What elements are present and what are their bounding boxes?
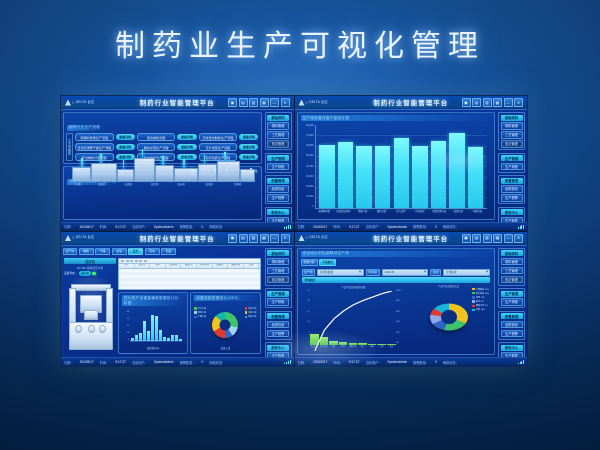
process-detail-button[interactable]: 查看详情 (116, 134, 135, 140)
bar-series (316, 125, 488, 208)
sidebar-item-shift[interactable]: 班次管理 (267, 140, 289, 148)
window-button-1[interactable]: ▣ (228, 234, 237, 243)
sidebar-item-inspection[interactable]: 品质检验 (501, 321, 523, 329)
legend-item: 片重超差 31% (472, 288, 489, 291)
sidebar-item-process[interactable]: 工艺管理 (501, 267, 523, 275)
process-detail-button[interactable]: 查看详情 (177, 134, 196, 140)
stage-tabs[interactable]: 制粒干燥总混压片包衣包装 (79, 248, 177, 256)
legend-label: 包衣工段 (248, 307, 256, 310)
app-titlebar: △ DELTA 台达 制药行业智能管理平台 ▣ ▤ ▥ ▦ — ✕ (295, 96, 528, 110)
sidebar-group-head: 质量管理 (501, 178, 523, 184)
production-line-panel: 全自动片剂包装联动生产线 运行 待机 故障 停机 保养 离线 (63, 166, 262, 220)
x-tick: 松片 (358, 345, 368, 350)
table-row: 流化床沸腾干燥生产流程 查看详情 整粒总混生产流程 查看详情 压片成型生产流程 … (75, 143, 259, 151)
legend-label: 硬度不足 7% (476, 304, 488, 307)
y-tick: 45 (127, 318, 129, 320)
column-header: 脆碎度 (213, 264, 229, 268)
sidebar-item-process[interactable]: 工艺管理 (501, 131, 523, 139)
user-label: 当前用户： (132, 224, 148, 229)
sidebar-item-shift[interactable]: 班次管理 (501, 276, 523, 284)
y-tick: 0 (312, 206, 313, 208)
status-bar: 日期： 2024/5/17 时间： 9:17:27 当前用户： SystemAd… (61, 357, 294, 366)
window-button-2[interactable]: ▤ (239, 234, 248, 243)
sidebar-item-inspection[interactable]: 品质检验 (501, 185, 523, 193)
window-button-3[interactable]: ▥ (249, 234, 258, 243)
table-row: 原辅料称量生产流程 查看详情 混合制粒流程 查看详情 高效湿法制粒生产流程 查看… (75, 133, 259, 141)
y-tick: 50,000 (306, 155, 313, 157)
legend-item: 硬度不足 7% (472, 304, 489, 307)
sidebar-item-alarm[interactable]: 生产报警 (267, 330, 289, 338)
window-button-1[interactable]: ▣ (462, 234, 471, 243)
filter-select-line[interactable]: 片剂包装线 (317, 269, 364, 277)
app-titlebar: △ DELTA 台达 制药行业智能管理平台 ▣ ▤ ▥ ▦ — ✕ (61, 96, 294, 110)
bar (394, 138, 409, 207)
sidebar-item-inspection[interactable]: 品质检验 (267, 321, 289, 329)
bar (449, 133, 464, 207)
data-table[interactable]: 序号批次号时间片重(mg)硬度(N)厚度(mm)脆碎度崩解时限状态 (118, 258, 261, 290)
x-axis: 片重超差裂片崩边色斑黏冲硬度不足松片缺角异物其他 (310, 345, 397, 350)
column-header: 厚度(mm) (197, 264, 213, 268)
sidebar-group-production: 生产管理 生产排程 (498, 153, 525, 173)
y-tick: 0% (396, 343, 399, 345)
window-button-4[interactable]: ▦ (260, 98, 269, 107)
column-header: 状态 (244, 264, 260, 268)
legend-swatch (194, 316, 197, 319)
minimize-button[interactable]: — (270, 98, 279, 107)
sidebar[interactable]: 基础资料 物料管理 工艺管理 班次管理 生产管理 生产排程 质量管理 品质检验 … (264, 246, 294, 358)
legend-swatch (472, 292, 475, 295)
column-header: 崩解时限 (228, 264, 244, 268)
panel-title: 制药行业生产流程 (67, 125, 105, 131)
x-tick: 黏冲 (338, 345, 348, 350)
sidebar-item-alarm[interactable]: 生产报警 (267, 194, 289, 202)
y-tick: 30,000 (306, 176, 313, 178)
status-led-icon (92, 272, 96, 276)
machine-row: 上料机 理瓶机 充填机 旋盖机 贴标机 装盒机 封箱机 (68, 152, 257, 182)
alarm-label: 报警数量： (180, 224, 196, 229)
defect-analysis-panel: 全自动片剂包装联动生产线 质量分析不良统计 生产线 片剂包装线 时间段 2024… (297, 248, 496, 356)
screen-defect-analysis[interactable]: △ DELTA 台达 制药行业智能管理平台 ▣ ▤ ▥ ▦ — ✕ 全自动片剂包… (295, 232, 528, 367)
legend-swatch (245, 316, 248, 319)
bar (151, 315, 154, 341)
y-tick: 20% (396, 333, 400, 335)
legend-label: 包装工段 (248, 311, 256, 314)
legend-label: 片重超差 31% (476, 288, 489, 291)
bar (356, 146, 371, 208)
sidebar-group-head: 基础资料 (501, 115, 523, 121)
close-button[interactable]: ✕ (514, 98, 523, 107)
x-tick: 高效湿法制粒 (334, 209, 353, 213)
window-button-4[interactable]: ▦ (493, 234, 502, 243)
alarm-value: 0 (202, 360, 204, 364)
donut-chart[interactable]: 压片工段制粒工段干燥工段 包衣工段包装工段称量工段 (193, 303, 257, 346)
chart-caption: 设备工段 (193, 346, 257, 351)
alarm-label: 报警数量： (180, 360, 196, 365)
machine-label: 上料机 (74, 182, 82, 186)
y-tick: 40% (396, 322, 400, 324)
legend-item: 干燥工段 (194, 315, 206, 318)
legend-swatch (472, 300, 475, 303)
process-detail-button[interactable]: 查看详情 (116, 144, 135, 150)
legend-label: 称量工段 (248, 315, 256, 318)
legend-item: 制粒工段 (194, 311, 206, 314)
sidebar-group-head: 基础资料 (501, 250, 523, 256)
x-tick: 包衣抛光 (410, 209, 429, 213)
alarm-label: 报警数量： (413, 360, 429, 365)
y-tick: 100% (396, 291, 401, 293)
alarm-label: 报警数量： (413, 224, 429, 229)
sidebar-item-shift[interactable]: 班次管理 (501, 140, 523, 148)
chart-title: 设备效能数据统计(OEE) (194, 295, 257, 301)
sidebar-group-basic: 基础资料 物料管理 工艺管理 班次管理 (498, 248, 525, 286)
sidebar-item-alarm[interactable]: 生产报警 (501, 194, 523, 202)
time-label: 时间： (100, 360, 110, 365)
sidebar-item-alarm[interactable]: 生产报警 (501, 330, 523, 338)
sidebar-group-head: 报表中心 (267, 209, 289, 215)
bar (431, 141, 446, 208)
sidebar-item-inspection[interactable]: 品质检验 (267, 185, 289, 193)
time-label: 时间： (333, 224, 343, 229)
y-axis-right: 100%80%60%40%20%0% (396, 291, 405, 346)
machine-status: 设备状态： 运行中 (64, 271, 116, 276)
minimize-button[interactable]: — (270, 234, 279, 243)
alarm-value: 0 (202, 225, 204, 229)
bar (155, 316, 158, 341)
signal-icon (518, 360, 524, 364)
filter-label-line: 生产线 (302, 269, 316, 276)
column-header: 片重(mg) (166, 264, 182, 268)
legend-label: 制粒工段 (198, 311, 206, 314)
tab-1[interactable]: 不良统计 (319, 259, 336, 267)
legend-label: 压片工段 (198, 307, 206, 310)
y-tick: 0 (128, 339, 129, 341)
sidebar-item-schedule[interactable]: 生产排程 (267, 163, 289, 171)
output-chart-panel: 生产线设备月度产量统计图 80,000 70,000 60,000 50,000… (297, 112, 496, 220)
minimize-button[interactable]: — (504, 98, 513, 107)
column-header: 硬度(N) (181, 264, 197, 268)
query-button[interactable]: 查询统计 (302, 277, 491, 283)
sidebar-item-schedule[interactable]: 生产排程 (501, 298, 523, 306)
sidebar-group-basic: 基础资料 物料管理 工艺管理 班次管理 (265, 112, 292, 150)
sidebar-group-head: 生产管理 (267, 155, 289, 161)
filter-bar[interactable]: 生产线 片剂包装线 时间段 2024-05 班次 全部班次 (300, 268, 493, 278)
y-tick: 60% (396, 312, 400, 314)
time-label: 时间： (100, 224, 110, 229)
machine-photo (64, 278, 116, 354)
x-tick: 装盒包装 (449, 209, 468, 213)
alarm-value: 0 (435, 360, 437, 364)
legend-label: 色斑 13% (476, 296, 485, 299)
close-button[interactable]: ✕ (281, 98, 290, 107)
sidebar-group-head: 报表中心 (501, 345, 523, 351)
column-header: 批次号 (135, 264, 151, 268)
chart-title: 生产线设备月度产量统计图 (301, 115, 493, 121)
network-label: 网络状态： (209, 224, 225, 229)
window-button-2[interactable]: ▤ (472, 234, 481, 243)
user-value: SystemAdmin (387, 225, 407, 229)
legend-swatch (194, 307, 197, 310)
x-tick: 异物 (377, 345, 387, 350)
tab-0[interactable]: 制粒 (79, 248, 94, 256)
plot-area (315, 125, 488, 209)
process-detail-button[interactable]: 查看详情 (177, 144, 196, 150)
filter-select-shift[interactable]: 全部班次 (443, 269, 490, 277)
date-value: 2024/5/17 (313, 225, 327, 229)
sidebar-group-head: 报表中心 (501, 209, 523, 215)
status-bar: 日期： 2024/5/17 时间： 9:17:27 当前用户： SystemAd… (61, 222, 294, 231)
sidebar-group-quality: 质量管理 品质检验 生产报警 (498, 311, 525, 340)
legend-item: 包衣工段 (245, 307, 257, 310)
window-button-3[interactable]: ▥ (483, 98, 492, 107)
legend-left: 压片工段制粒工段干燥工段 (194, 307, 206, 318)
y-tick: 10,000 (306, 196, 313, 198)
window-button-4[interactable]: ▦ (493, 98, 502, 107)
screen-tablet-press[interactable]: △ DELTA 台达 制药行业智能管理平台 ▣ ▤ ▥ ▦ — ✕ 生产线 制粒… (61, 232, 294, 367)
y-tick: 60,000 (306, 145, 313, 147)
network-label: 网络状态： (443, 360, 459, 365)
user-value: SystemAdmin (154, 225, 174, 229)
x-tick: 铝塑泡罩包装 (430, 209, 449, 213)
process-tag[interactable]: 流化床沸腾干燥生产流程 (75, 143, 114, 151)
bar-chart[interactable]: 80,000 70,000 60,000 50,000 40,000 30,00… (300, 123, 493, 217)
close-button[interactable]: ✕ (514, 234, 523, 243)
machine-label: 充填机 (125, 182, 133, 186)
x-tick: 其他 (387, 345, 397, 350)
legend-label: 裂片崩边 24% (476, 292, 489, 295)
y-tick: 40,000 (306, 166, 313, 168)
histogram-chart[interactable]: 604530150 -3.0-2.5-2.0-1.5-1.0-0.50.00.5… (123, 309, 183, 346)
y-tick: 20,000 (306, 186, 313, 188)
app-titlebar: △ DELTA 台达 制药行业智能管理平台 ▣ ▤ ▥ ▦ — ✕ (61, 232, 294, 246)
sidebar[interactable]: 基础资料 物料管理 工艺管理 班次管理 生产管理 生产排程 质量管理 品质检验 … (497, 110, 527, 222)
x-tick: 外箱包装 (468, 209, 487, 213)
legend-item: 黏冲 9% (472, 300, 489, 303)
status-label: 设备状态： (64, 271, 77, 275)
user-label: 当前用户： (132, 360, 148, 365)
x-tick: 3.0 (178, 341, 182, 346)
column-header: 序号 (119, 264, 135, 268)
machine-panel: 压片机 ZP-35D 旋转式压片机 设备状态： 运行中 (64, 258, 116, 354)
sidebar-group-basic: 基础资料 物料管理 工艺管理 班次管理 (498, 112, 525, 150)
process-tag[interactable]: 原辅料称量生产流程 (75, 133, 114, 141)
tab-1[interactable]: 干燥 (95, 248, 110, 256)
bar (143, 321, 146, 342)
donut-shape (212, 312, 238, 338)
x-tick: 压片成型 (391, 209, 410, 213)
y-tick: 30 (127, 325, 129, 327)
bar (338, 142, 353, 208)
date-label: 日期： (298, 360, 308, 365)
y-axis-left: 3528211470 (302, 291, 310, 346)
cumulative-line (310, 291, 397, 367)
machine-label: 旋盖机 (151, 182, 159, 186)
date-value: 2024/5/17 (80, 360, 94, 364)
status-badge: 运行中 (79, 271, 91, 276)
legend-label: 黏冲 9% (476, 300, 484, 303)
legend-right: 片重超差 31%裂片崩边 24%色斑 13%黏冲 9%硬度不足 7%其他 16% (472, 288, 489, 312)
sidebar-item-material[interactable]: 物料管理 (267, 122, 289, 130)
sidebar-item-process[interactable]: 工艺管理 (267, 267, 289, 275)
sidebar-group-basic: 基础资料 物料管理 工艺管理 班次管理 (265, 248, 292, 286)
window-button-2[interactable]: ▤ (239, 98, 248, 107)
network-label: 网络状态： (443, 224, 459, 229)
tab-3[interactable]: 压片 (128, 248, 143, 256)
user-label: 当前用户： (365, 224, 381, 229)
y-tick: 70,000 (306, 135, 313, 137)
date-label: 日期： (64, 360, 74, 365)
table-body[interactable] (119, 269, 260, 289)
window-button-1[interactable]: ▣ (228, 98, 237, 107)
window-button-4[interactable]: ▦ (260, 234, 269, 243)
sidebar-group-head: 基础资料 (267, 250, 289, 256)
machine-name: 压片机 (64, 258, 116, 264)
bar (468, 147, 483, 207)
tab-4[interactable]: 包衣 (145, 248, 160, 256)
machine-label: 封箱机 (234, 182, 242, 186)
bar (375, 146, 390, 208)
legend-swatch (472, 305, 475, 308)
process-detail-button[interactable]: 查看详情 (239, 144, 258, 150)
tab-2[interactable]: 总混 (112, 248, 127, 256)
process-tag[interactable]: 高效湿法制粒生产流程 (199, 133, 238, 141)
sidebar-group-head: 生产管理 (501, 155, 523, 161)
x-tick: 缺角 (367, 345, 377, 350)
sidebar-group-production: 生产管理 生产排程 (265, 288, 292, 308)
legend-swatch (245, 307, 248, 310)
sidebar-group-head: 质量管理 (267, 178, 289, 184)
machine-label: 理瓶机 (98, 182, 106, 186)
sidebar-group-head: 质量管理 (267, 313, 289, 319)
legend-swatch (472, 309, 475, 312)
weight-deviation-panel: 压片机产品重量偏差数据统计分析图 604530150 -3.0-2.5-2.0-… (118, 292, 188, 354)
window-buttons[interactable]: ▣ ▤ ▥ ▦ — ✕ (462, 234, 526, 243)
line-label: 生产线 (63, 248, 77, 256)
chart-title: 产品不良品原因柏拉图 (302, 285, 406, 290)
legend-swatch (472, 296, 475, 299)
legend-right: 包衣工段包装工段称量工段 (245, 307, 257, 318)
sidebar-item-schedule[interactable]: 生产排程 (267, 298, 289, 306)
x-axis: -3.0-2.5-2.0-1.5-1.0-0.50.00.51.01.52.02… (130, 341, 182, 346)
donut-3d-shape (430, 302, 468, 332)
process-tag[interactable]: 混合制粒流程 (137, 133, 176, 141)
user-value: SystemAdmin (154, 360, 174, 364)
legend-swatch (472, 288, 475, 291)
window-buttons[interactable]: ▣ ▤ ▥ ▦ — ✕ (228, 234, 292, 243)
window-button-1[interactable]: ▣ (462, 98, 471, 107)
time-value: 9:17:27 (115, 360, 126, 364)
minimize-button[interactable]: — (504, 234, 513, 243)
sidebar-group-head: 报表中心 (267, 345, 289, 351)
x-tick: 色斑 (329, 345, 339, 350)
sidebar-group-production: 生产管理 生产排程 (265, 153, 292, 173)
signal-icon (518, 225, 524, 229)
sidebar-group-production: 生产管理 生产排程 (498, 288, 525, 308)
y-tick: 15 (127, 332, 129, 334)
sidebar-group-head: 生产管理 (267, 291, 289, 297)
legend-label: 其他 16% (476, 308, 485, 311)
filter-select-period[interactable]: 2024-05 (382, 269, 429, 277)
app-titlebar: △ DELTA 台达 制药行业智能管理平台 ▣ ▤ ▥ ▦ — ✕ (295, 232, 528, 246)
defect-donut-chart[interactable]: 产品不良品类别占比 片重超差 31%裂片崩边 24%色斑 13%黏冲 9%硬度不… (407, 285, 490, 351)
x-tick: 裂片崩边 (319, 345, 329, 350)
screen-process-overview[interactable]: △ DELTA 台达 制药行业智能管理平台 ▣ ▤ ▥ ▦ — ✕ 制药行业生产… (61, 96, 294, 231)
x-tick: 硬度不足 (348, 345, 358, 350)
tab-0[interactable]: 质量分析 (301, 259, 318, 267)
machine-label: 装盒机 (206, 182, 214, 186)
date-value: 2024/5/17 (80, 225, 94, 229)
video-wall: △ DELTA 台达 制药行业智能管理平台 ▣ ▤ ▥ ▦ — ✕ 制药行业生产… (60, 95, 528, 367)
bar (319, 145, 334, 208)
sidebar-item-material[interactable]: 物料管理 (267, 258, 289, 266)
sidebar-group-head: 基础资料 (267, 115, 289, 121)
sidebar-group-head: 质量管理 (501, 313, 523, 319)
legend-label: 干燥工段 (198, 315, 206, 318)
time-value: 9:17:27 (115, 225, 126, 229)
alarm-value: 0 (435, 225, 437, 229)
sidebar-group-head: 生产管理 (501, 291, 523, 297)
sidebar-item-schedule[interactable]: 生产排程 (501, 163, 523, 171)
y-tick: 60 (127, 311, 129, 313)
sidebar[interactable]: 基础资料 物料管理 工艺管理 班次管理 生产管理 生产排程 质量管理 品质检验 … (497, 246, 527, 358)
machine-label: 贴标机 (177, 182, 185, 186)
sidebar-item-process[interactable]: 工艺管理 (267, 131, 289, 139)
close-button[interactable]: ✕ (281, 234, 290, 243)
y-axis: 80,000 70,000 60,000 50,000 40,000 30,00… (303, 125, 314, 209)
filter-label-period: 时间段 (366, 269, 380, 276)
legend-item: 称量工段 (245, 315, 257, 318)
signal-icon (284, 225, 290, 229)
window-button-3[interactable]: ▥ (249, 98, 258, 107)
status-bar: 日期： 2024/5/17 时间： 9:17:27 当前用户： SystemAd… (295, 222, 528, 231)
x-tick: 整粒总混 (372, 209, 391, 213)
y-tick: 80% (396, 301, 400, 303)
sidebar-item-shift[interactable]: 班次管理 (267, 276, 289, 284)
legend-item: 色斑 13% (472, 296, 489, 299)
y-axis: 604530150 (123, 311, 129, 341)
filter-label-shift: 班次 (430, 269, 441, 276)
legend-swatch (194, 311, 197, 314)
sidebar-item-material[interactable]: 物料管理 (501, 258, 523, 266)
legend-item: 包装工段 (245, 311, 257, 314)
sidebar-group-quality: 质量管理 品质检验 生产报警 (265, 175, 292, 204)
legend-item: 裂片崩边 24% (472, 292, 489, 295)
sidebar-group-quality: 质量管理 品质检验 生产报警 (265, 311, 292, 340)
network-label: 网络状态： (209, 360, 225, 365)
legend-swatch (245, 311, 248, 314)
process-tag[interactable]: 压片成型生产流程 (199, 143, 238, 151)
page-title: 制药业生产可视化管理 (0, 21, 600, 65)
window-button-2[interactable]: ▤ (472, 98, 481, 107)
column-header: 时间 (150, 264, 166, 268)
window-buttons[interactable]: ▣ ▤ ▥ ▦ — ✕ (462, 98, 526, 107)
x-tick: 沸腾干燥 (353, 209, 372, 213)
signal-icon (284, 360, 290, 364)
screen-output-statistics[interactable]: △ DELTA 台达 制药行业智能管理平台 ▣ ▤ ▥ ▦ — ✕ 生产线设备月… (295, 96, 528, 231)
tab-5[interactable]: 包装 (161, 248, 176, 256)
x-tick: 原辅料称量 (315, 209, 334, 213)
legend-item: 其他 16% (472, 308, 489, 311)
panel-title: 全自动片剂包装联动生产线 (301, 251, 493, 257)
sidebar-item-material[interactable]: 物料管理 (501, 122, 523, 130)
time-value: 9:17:27 (349, 225, 360, 229)
sidebar-group-quality: 质量管理 品质检验 生产报警 (498, 175, 525, 204)
pareto-chart[interactable]: 产品不良品原因柏拉图 3528211470 100%80%60%40%20%0%… (302, 285, 406, 351)
window-buttons[interactable]: ▣ ▤ ▥ ▦ — ✕ (228, 98, 292, 107)
window-button-3[interactable]: ▥ (483, 234, 492, 243)
sidebar[interactable]: 基础资料 物料管理 工艺管理 班次管理 生产管理 生产排程 质量管理 品质检验 … (264, 110, 294, 222)
analysis-tabs[interactable]: 质量分析不良统计 (301, 259, 493, 267)
process-detail-button[interactable]: 查看详情 (239, 134, 258, 140)
